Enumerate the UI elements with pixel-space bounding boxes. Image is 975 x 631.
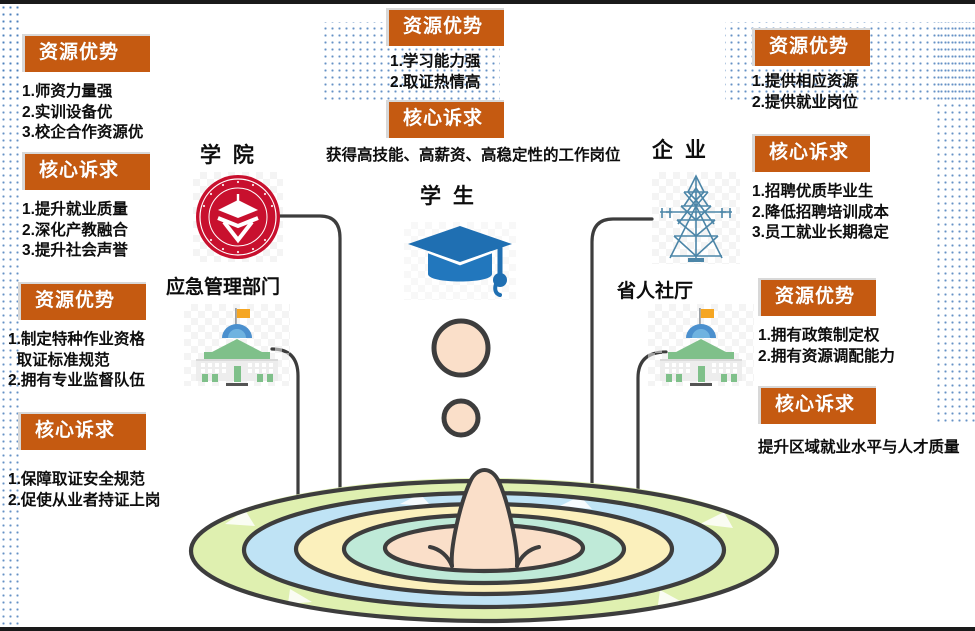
graduation-cap-icon xyxy=(404,222,516,300)
chip-college-resource: 资源优势 xyxy=(22,34,150,72)
college-appeal-items: 1.提升就业质量 2.深化产教融合 3.提升社会声誉 xyxy=(22,200,128,262)
chip-label: 核心诉求 xyxy=(39,161,119,180)
chip-provincial-resource: 资源优势 xyxy=(758,278,876,316)
chip-label: 资源优势 xyxy=(39,43,119,62)
dot-texture-right xyxy=(935,4,975,474)
government-building-icon-right xyxy=(648,304,754,386)
chip-label: 资源优势 xyxy=(35,291,115,310)
entity-title-provincial: 省人社厅 xyxy=(617,276,693,303)
enterprise-resource-items: 1.提供相应资源 2.提供就业岗位 xyxy=(752,72,858,113)
chip-label: 核心诉求 xyxy=(403,109,483,128)
droplet-small xyxy=(444,401,478,435)
enterprise-appeal-items: 1.招聘优质毕业生 2.降低招聘培训成本 3.员工就业长期稳定 xyxy=(752,182,889,244)
splash-column xyxy=(430,470,539,566)
chip-label: 资源优势 xyxy=(769,37,849,56)
chip-emergency-appeal: 核心诉求 xyxy=(18,412,146,450)
chip-college-appeal: 核心诉求 xyxy=(22,152,150,190)
ripple-fills xyxy=(192,478,776,620)
chip-label: 核心诉求 xyxy=(775,395,855,414)
college-resource-items: 1.师资力量强 2.实训设备优 3.校企合作资源优 xyxy=(22,82,143,144)
chip-label: 核心诉求 xyxy=(769,143,849,162)
student-appeal-items: 获得高技能、高薪资、高稳定性的工作岗位 xyxy=(326,146,621,167)
college-emblem-icon xyxy=(193,172,283,262)
chip-provincial-appeal: 核心诉求 xyxy=(758,386,876,424)
mask-top-mid xyxy=(500,22,725,102)
chip-student-resource: 资源优势 xyxy=(386,8,504,46)
entity-title-emergency: 应急管理部门 xyxy=(166,272,280,299)
droplet-large xyxy=(434,321,488,375)
provincial-resource-items: 1.拥有政策制定权 2.拥有资源调配能力 xyxy=(758,326,895,367)
emergency-resource-items: 1.制定特种作业资格 取证标准规范 2.拥有专业监督队伍 xyxy=(8,330,145,392)
power-tower-icon xyxy=(652,172,740,264)
chip-label: 核心诉求 xyxy=(35,421,115,440)
entity-title-enterprise: 企 业 xyxy=(652,134,709,164)
chip-enterprise-appeal: 核心诉求 xyxy=(752,134,870,172)
government-building-icon-left xyxy=(184,304,290,386)
chip-student-appeal: 核心诉求 xyxy=(386,100,504,138)
diagram-canvas: 资源优势 1.师资力量强 2.实训设备优 3.校企合作资源优 核心诉求 1.提升… xyxy=(0,0,975,631)
ripple-rings xyxy=(191,481,777,621)
student-resource-items: 1.学习能力强 2.取证热情高 xyxy=(390,52,480,93)
emergency-appeal-items: 1.保障取证安全规范 2.促使从业者持证上岗 xyxy=(8,470,160,511)
chip-label: 资源优势 xyxy=(775,287,855,306)
chip-enterprise-resource: 资源优势 xyxy=(752,28,870,66)
chip-label: 资源优势 xyxy=(403,17,483,36)
chip-emergency-resource: 资源优势 xyxy=(18,282,146,320)
entity-title-student: 学 生 xyxy=(420,180,477,210)
provincial-appeal-items: 提升区域就业水平与人才质量 xyxy=(758,438,960,459)
entity-title-college: 学 院 xyxy=(200,139,257,169)
connector-enterprise xyxy=(592,219,652,524)
